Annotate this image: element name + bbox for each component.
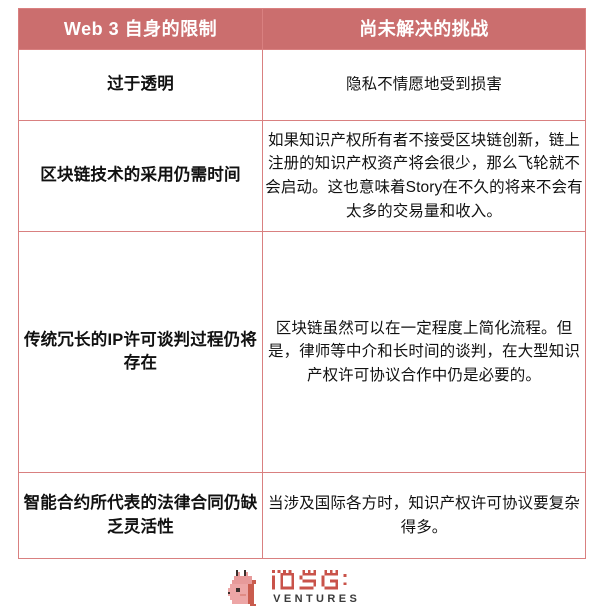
comparison-table: Web 3 自身的限制 尚未解决的挑战 过于透明 隐私不情愿地受到损害 区块链技… [18,8,586,559]
column-header-limitations: Web 3 自身的限制 [19,9,263,50]
row-term: 传统冗长的IP许可谈判过程仍将存在 [19,232,263,473]
row-detail: 如果知识产权所有者不接受区块链创新，链上注册的知识产权资产将会很少，那么飞轮就不… [263,121,586,232]
column-header-limitations-label: Web 3 自身的限制 [19,9,262,49]
table-header: Web 3 自身的限制 尚未解决的挑战 [19,9,586,50]
column-header-challenges-label: 尚未解决的挑战 [263,9,585,49]
row-detail: 隐私不情愿地受到损害 [263,50,586,121]
llama-head-icon [226,568,262,608]
row-term: 智能合约所代表的法律合同仍缺乏灵活性 [19,473,263,559]
comparison-slide: Web 3 自身的限制 尚未解决的挑战 过于透明 隐私不情愿地受到损害 区块链技… [0,0,600,614]
row-detail: 区块链虽然可以在一定程度上简化流程。但是，律师等中介和长时间的谈判，在大型知识产… [263,232,586,473]
table-row: 传统冗长的IP许可谈判过程仍将存在 区块链虽然可以在一定程度上简化流程。但是，律… [19,232,586,473]
row-term: 过于透明 [19,50,263,121]
logo-wordmark: VENTURES [272,568,374,608]
header-row: Web 3 自身的限制 尚未解决的挑战 [19,9,586,50]
footer-logo: VENTURES [0,566,600,610]
table-body: 过于透明 隐私不情愿地受到损害 区块链技术的采用仍需时间 如果知识产权所有者不接… [19,50,586,559]
table-row: 区块链技术的采用仍需时间 如果知识产权所有者不接受区块链创新，链上注册的知识产权… [19,121,586,232]
column-header-challenges: 尚未解决的挑战 [263,9,586,50]
row-detail: 当涉及国际各方时，知识产权许可协议要复杂得多。 [263,473,586,559]
table-row: 智能合约所代表的法律合同仍缺乏灵活性 当涉及国际各方时，知识产权许可协议要复杂得… [19,473,586,559]
iosg-wordmark-icon [272,570,374,592]
logo-subtitle: VENTURES [273,593,360,606]
table-row: 过于透明 隐私不情愿地受到损害 [19,50,586,121]
row-term: 区块链技术的采用仍需时间 [19,121,263,232]
